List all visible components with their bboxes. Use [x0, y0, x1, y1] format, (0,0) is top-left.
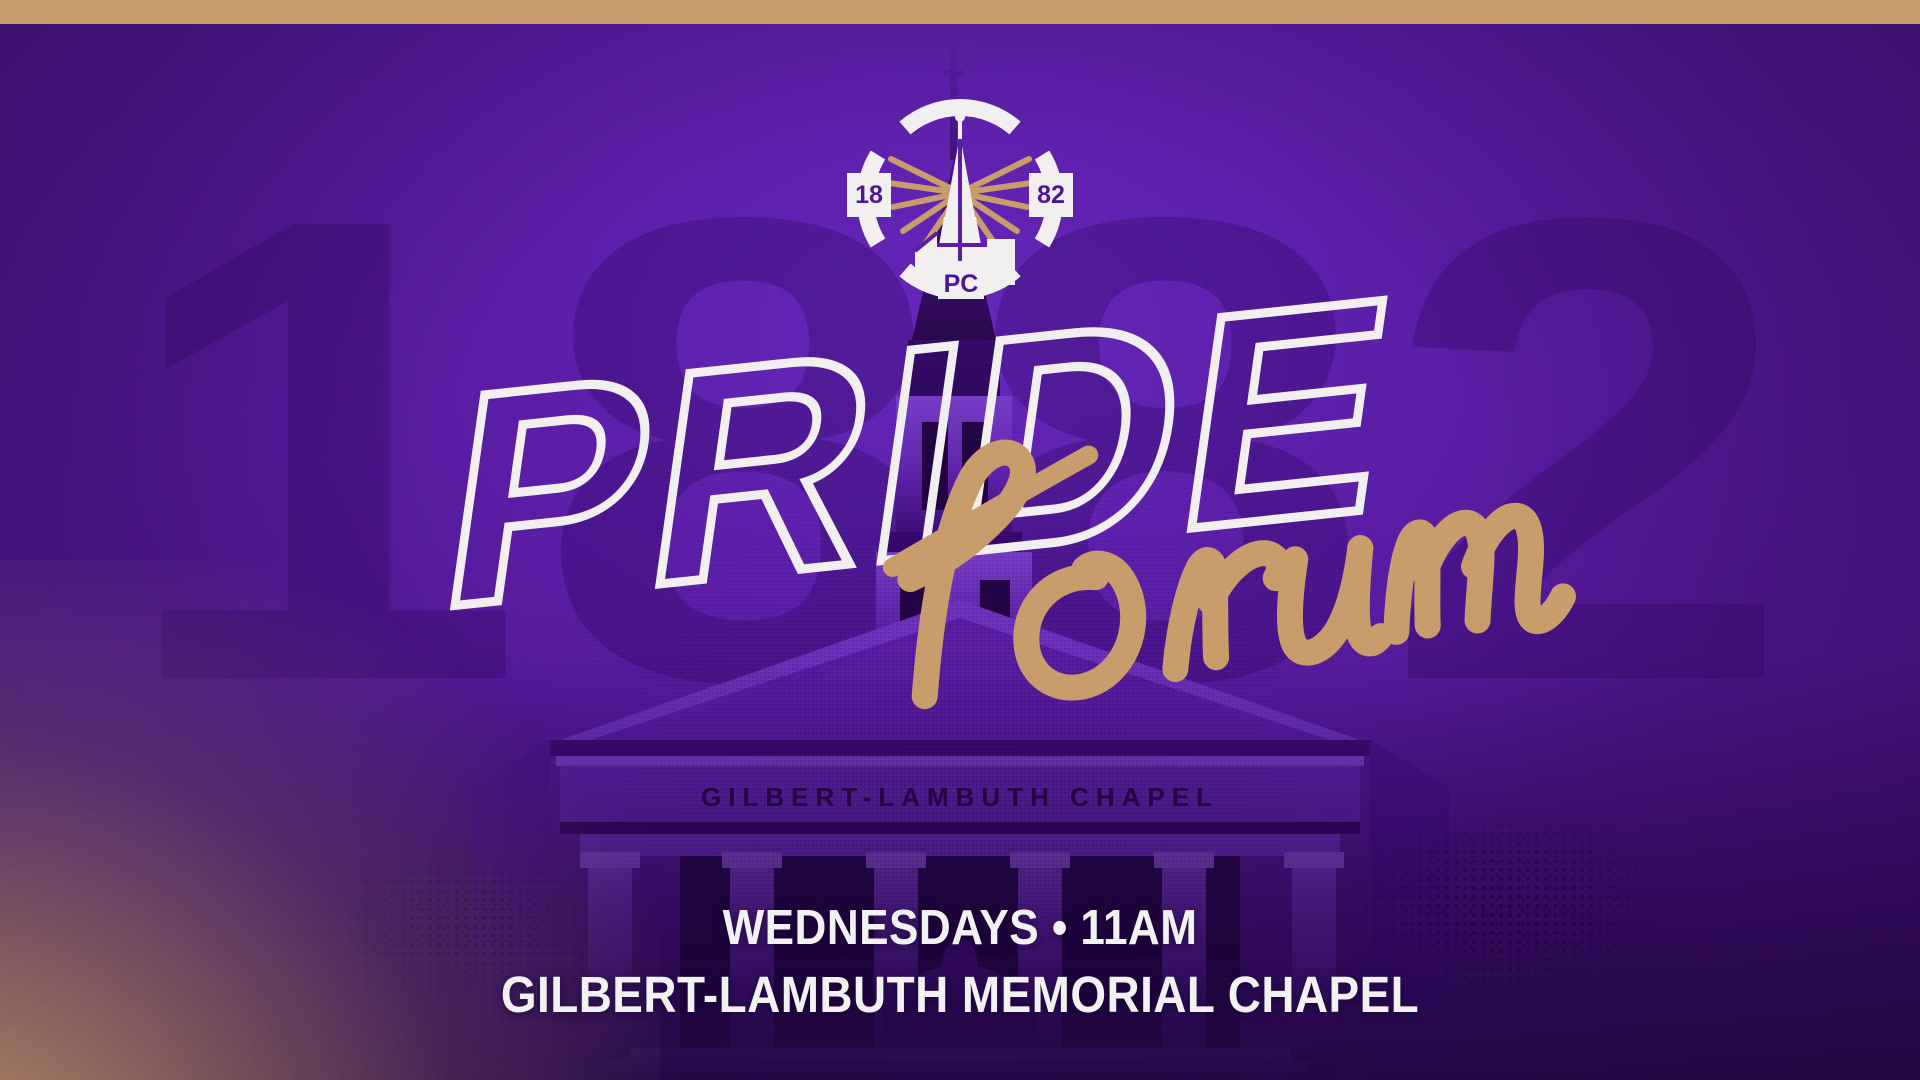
- detail-line-schedule: WEDNESDAYS • 11AM: [96, 900, 1824, 956]
- event-details: WEDNESDAYS • 11AM GILBERT-LAMBUTH MEMORI…: [0, 900, 1920, 1024]
- pride-forum-poster: 1882: [0, 0, 1920, 1080]
- pc-seal-logo: 18 82 PC: [845, 95, 1075, 300]
- top-gold-bar: [0, 0, 1920, 24]
- detail-line-venue: GILBERT-LAMBUTH MEMORIAL CHAPEL: [96, 966, 1824, 1024]
- logo-year-right: 82: [1037, 181, 1065, 209]
- chapel-frieze-inscription: GILBERT-LAMBUTH CHAPEL: [701, 782, 1219, 812]
- logo-year-left: 18: [855, 181, 883, 209]
- logo-initials: PC: [944, 270, 979, 298]
